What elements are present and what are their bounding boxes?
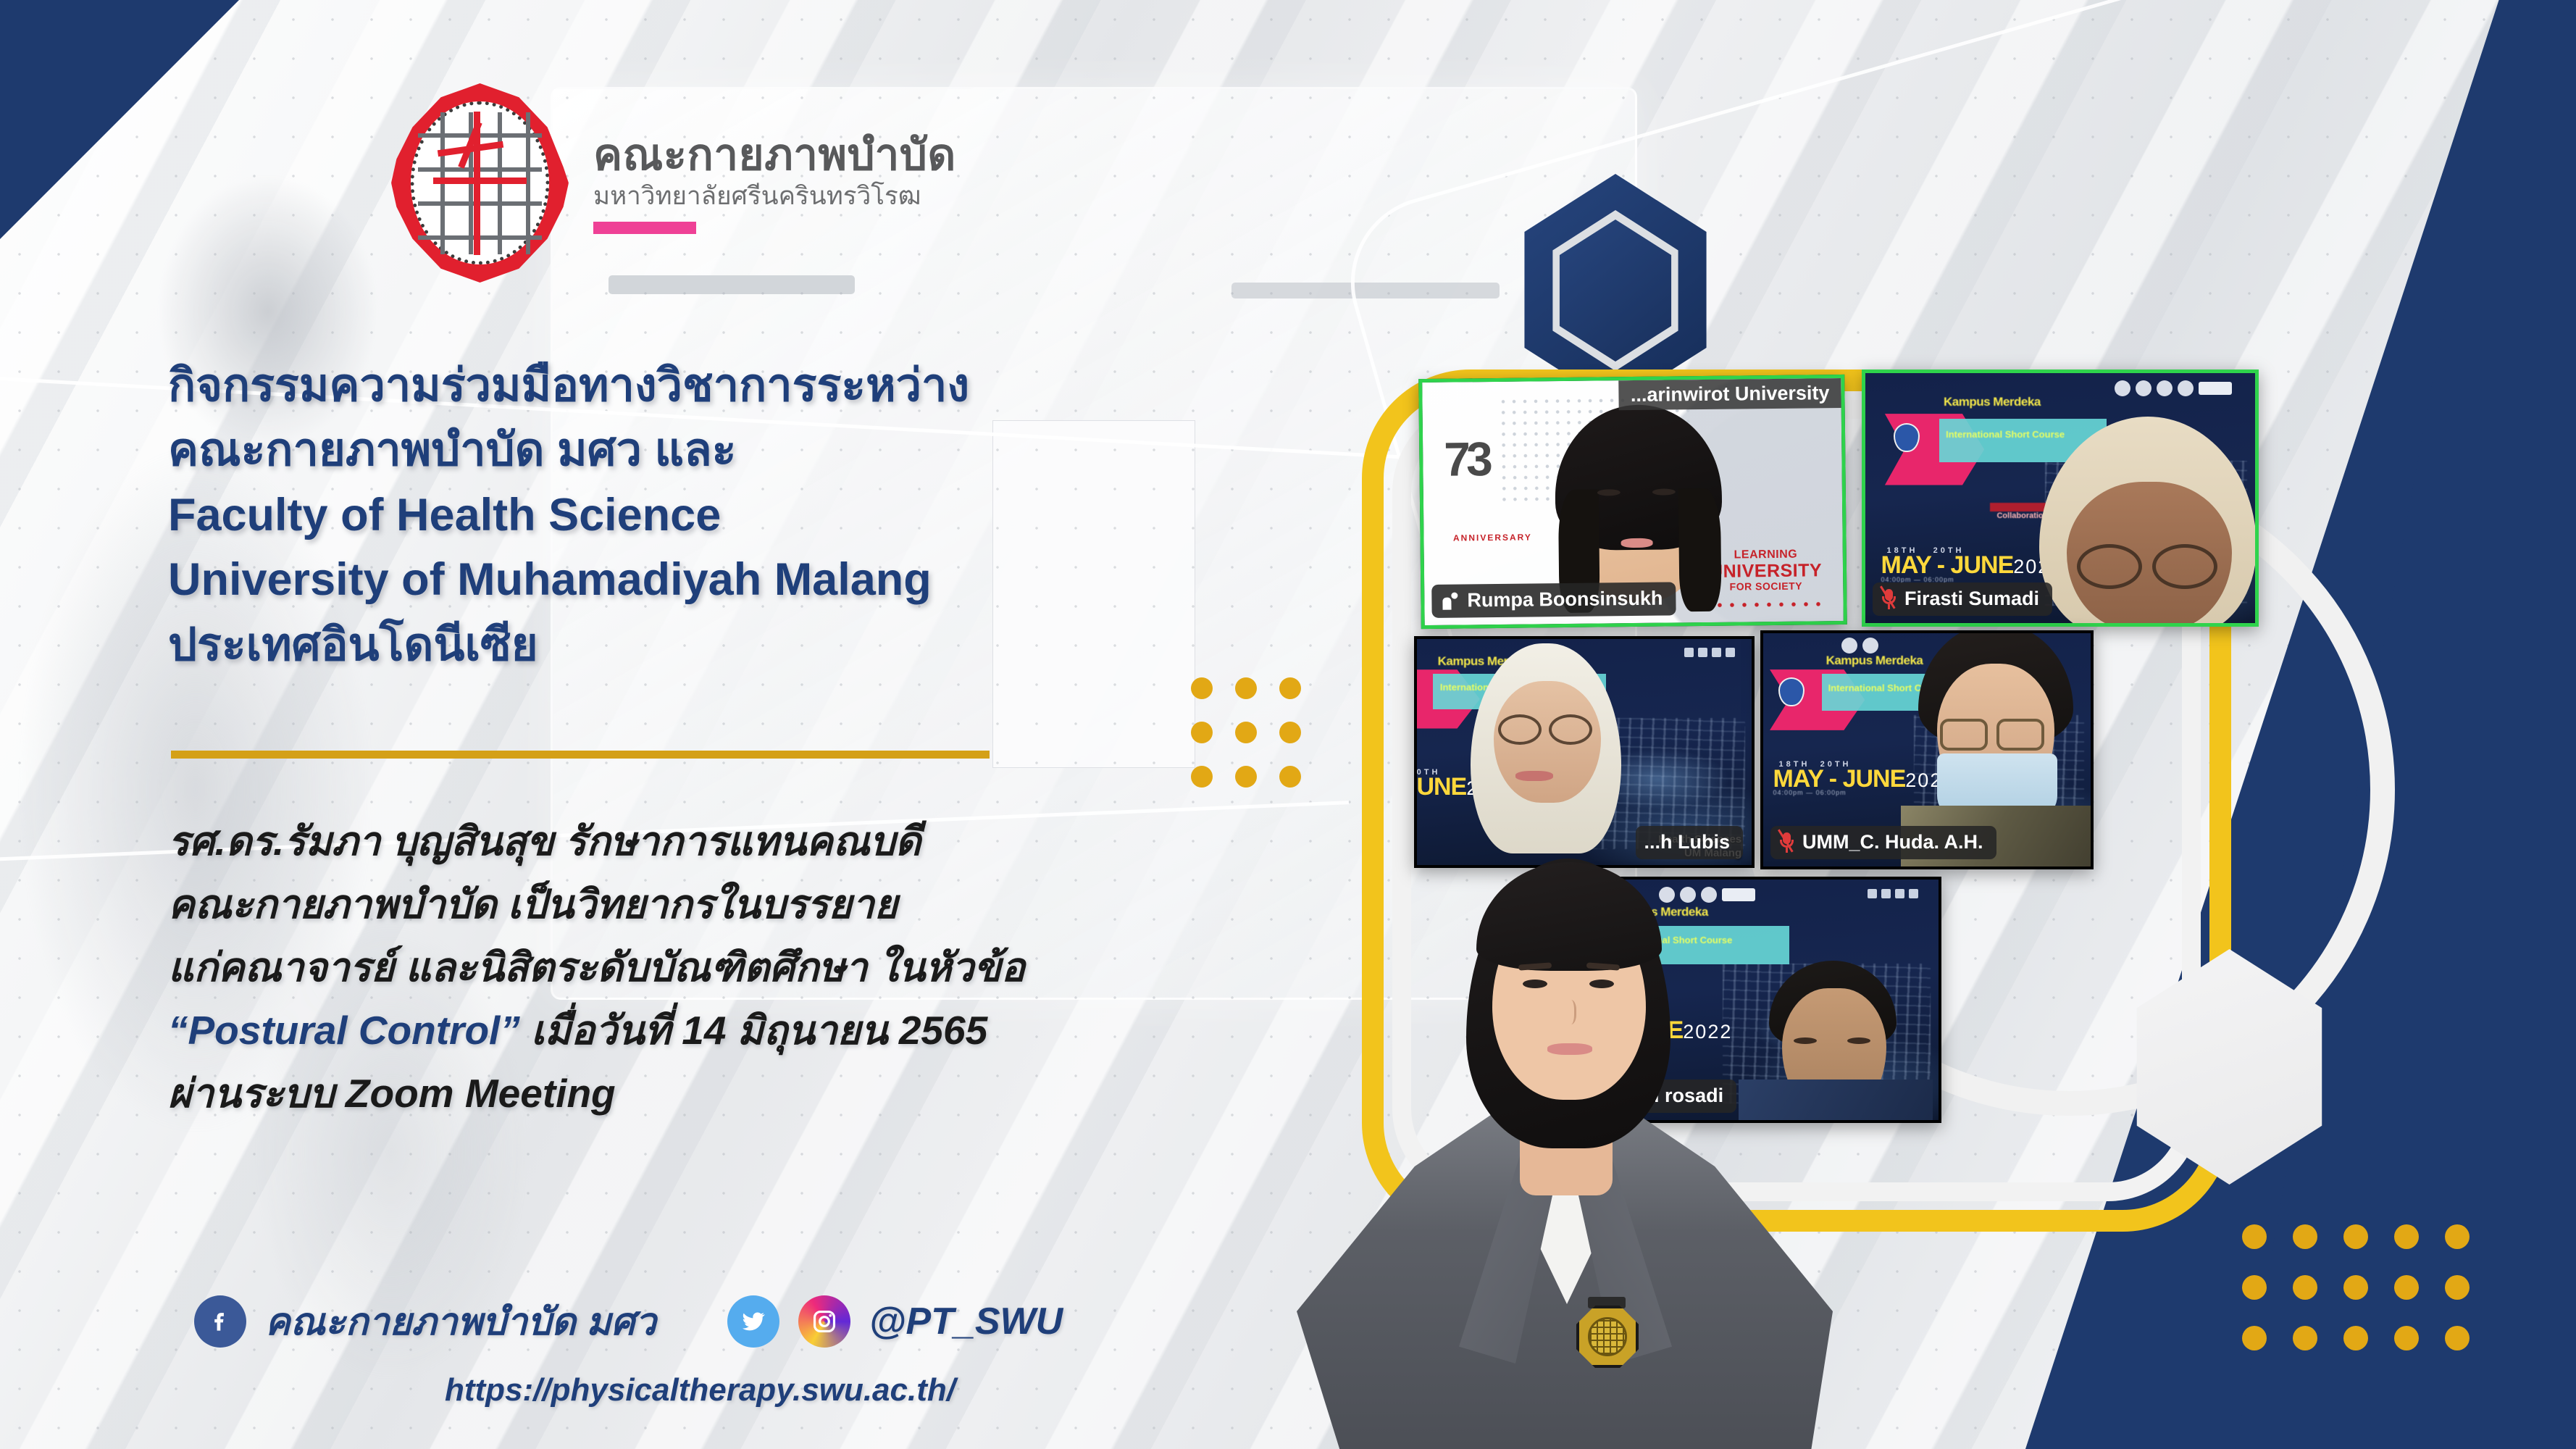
instagram-icon[interactable]	[798, 1295, 850, 1348]
date-months: MAY - JUNE	[1881, 551, 2014, 579]
facebook-icon[interactable]	[194, 1295, 246, 1348]
poster-canvas: คณะกายภาพบำบัด มหาวิทยาลัยศรีนครินทรวิโร…	[0, 0, 2576, 1449]
zoom-participant-name: Firasti Sumadi	[1904, 588, 2039, 610]
swu-seal-icon	[391, 83, 569, 283]
zoom-participant-name: Rumpa Boonsinsukh	[1467, 588, 1663, 612]
virtual-bg-event: International Short Course	[1946, 429, 2065, 440]
headline-line-4: University of Muhamadiyah Malang	[168, 548, 1197, 612]
body-line-2: คณะกายภาพบำบัด เป็นวิทยากรในบรรยาย	[168, 873, 1211, 936]
body-line-4: “Postural Control” เมื่อวันที่ 14 มิถุนา…	[168, 999, 1211, 1062]
participant-glasses-right	[2152, 544, 2217, 589]
facebook-page-label[interactable]: คณะกายภาพบำบัด มศว	[265, 1291, 656, 1351]
zoom-name-badge: Firasti Sumadi	[1873, 582, 2052, 616]
participant-hair-right	[1678, 488, 1722, 612]
zoom-tile-rumpa[interactable]: 73 ANNIVERSARY LEARNING UNIVERSITY FOR S…	[1418, 375, 1847, 629]
lecture-topic: “Postural Control”	[168, 1008, 520, 1053]
logo-university-name: มหาวิทยาลัยศรีนครินทรวิโรฒ	[593, 181, 956, 212]
virtual-bg-social-row	[1868, 889, 1918, 898]
participant-mouth	[1515, 771, 1553, 781]
body-line-4-rest: เมื่อวันที่ 14 มิถุนายน 2565	[520, 1008, 987, 1053]
social-links-row: คณะกายภาพบำบัด มศว @PT_SWU	[194, 1291, 1063, 1351]
virtual-bg-date-block: 18TH 20TH MAY - JUNE2022 04:00pm — 06:00…	[1881, 546, 2063, 583]
faculty-logo: คณะกายภาพบำบัด มหาวิทยาลัยศรีนครินทรวิโร…	[391, 83, 956, 283]
headline-line-2: คณะกายภาพบำบัด มศว และ	[168, 418, 1197, 483]
twitter-icon[interactable]	[727, 1295, 779, 1348]
participant-eye-right	[1847, 1037, 1870, 1044]
body-line-1-rest: รักษาการแทนคณบดี	[554, 819, 921, 864]
participant-mouth	[1621, 538, 1653, 548]
participant-glasses-right	[1549, 714, 1592, 745]
swu-tagline: LEARNING UNIVERSITY FOR SOCIETY	[1710, 548, 1823, 593]
virtual-bg-logo-row	[2115, 380, 2232, 396]
portrait-eye-right	[1589, 980, 1614, 988]
participant-glasses-left	[1498, 714, 1542, 745]
tagline-line-2: UNIVERSITY	[1710, 561, 1822, 582]
zoom-top-banner: ...arinwirot University	[1619, 378, 1841, 410]
speaker-name: รศ.ดร.รัมภา บุญสินสุข	[168, 819, 554, 864]
yellow-dot-grid-large	[2242, 1224, 2470, 1350]
anniversary-number: 73	[1444, 440, 1489, 478]
social-handle[interactable]: @PT_SWU	[869, 1300, 1063, 1343]
portrait-nose	[1563, 1000, 1576, 1024]
portrait-mouth	[1547, 1043, 1592, 1055]
body-line-5: ผ่านระบบ Zoom Meeting	[168, 1062, 1211, 1125]
mic-muted-icon	[1881, 588, 1897, 610]
participant-glasses-left	[2077, 544, 2142, 589]
portrait-pin-emblem	[1588, 1317, 1627, 1356]
virtual-bg-brand: Kampus Merdeka	[1826, 655, 1923, 667]
logo-faculty-name: คณะกายภาพบำบัด	[593, 132, 956, 178]
participant-glasses-right	[1996, 719, 2044, 751]
virtual-bg-brand: Kampus Merdeka	[1944, 396, 2041, 408]
page-title: กิจกรรมความร่วมมือทางวิชาการระหว่าง คณะก…	[168, 354, 1197, 677]
headline-line-1: กิจกรรมความร่วมมือทางวิชาการระหว่าง	[168, 354, 1197, 418]
portrait-hair-fringe	[1476, 862, 1662, 971]
logo-pink-bar	[593, 222, 696, 234]
body-line-3: แก่คณาจารย์ และนิสิตระดับบัณฑิตศึกษา ในห…	[168, 936, 1211, 999]
body-line-1: รศ.ดร.รัมภา บุญสินสุข รักษาการแทนคณบดี	[168, 810, 1211, 873]
participant-glasses-left	[1940, 719, 1988, 751]
headline-line-5: ประเทศอินโดนีเซีย	[168, 613, 1197, 677]
anniversary-word: ANNIVERSARY	[1453, 532, 1532, 543]
date-months: MAY - JUNE	[1773, 765, 1906, 793]
body-paragraph: รศ.ดร.รัมภา บุญสินสุข รักษาการแทนคณบดี ค…	[168, 810, 1211, 1124]
virtual-bg-social-row	[1684, 648, 1735, 657]
zoom-tile-firasti[interactable]: Kampus Merdeka International Short Cours…	[1862, 369, 2259, 627]
website-url[interactable]: https://physicaltherapy.swu.ac.th/	[445, 1372, 955, 1408]
host-icon	[1440, 590, 1459, 611]
yellow-dot-grid-small	[1191, 677, 1301, 788]
tagline-line-3: FOR SOCIETY	[1710, 581, 1822, 593]
gold-divider-rule	[171, 751, 990, 759]
zoom-name-badge: Rumpa Boonsinsukh	[1431, 582, 1676, 618]
dean-portrait	[1297, 790, 1833, 1449]
portrait-eye-left	[1523, 980, 1547, 988]
headline-line-3: Faculty of Health Science	[168, 483, 1197, 548]
